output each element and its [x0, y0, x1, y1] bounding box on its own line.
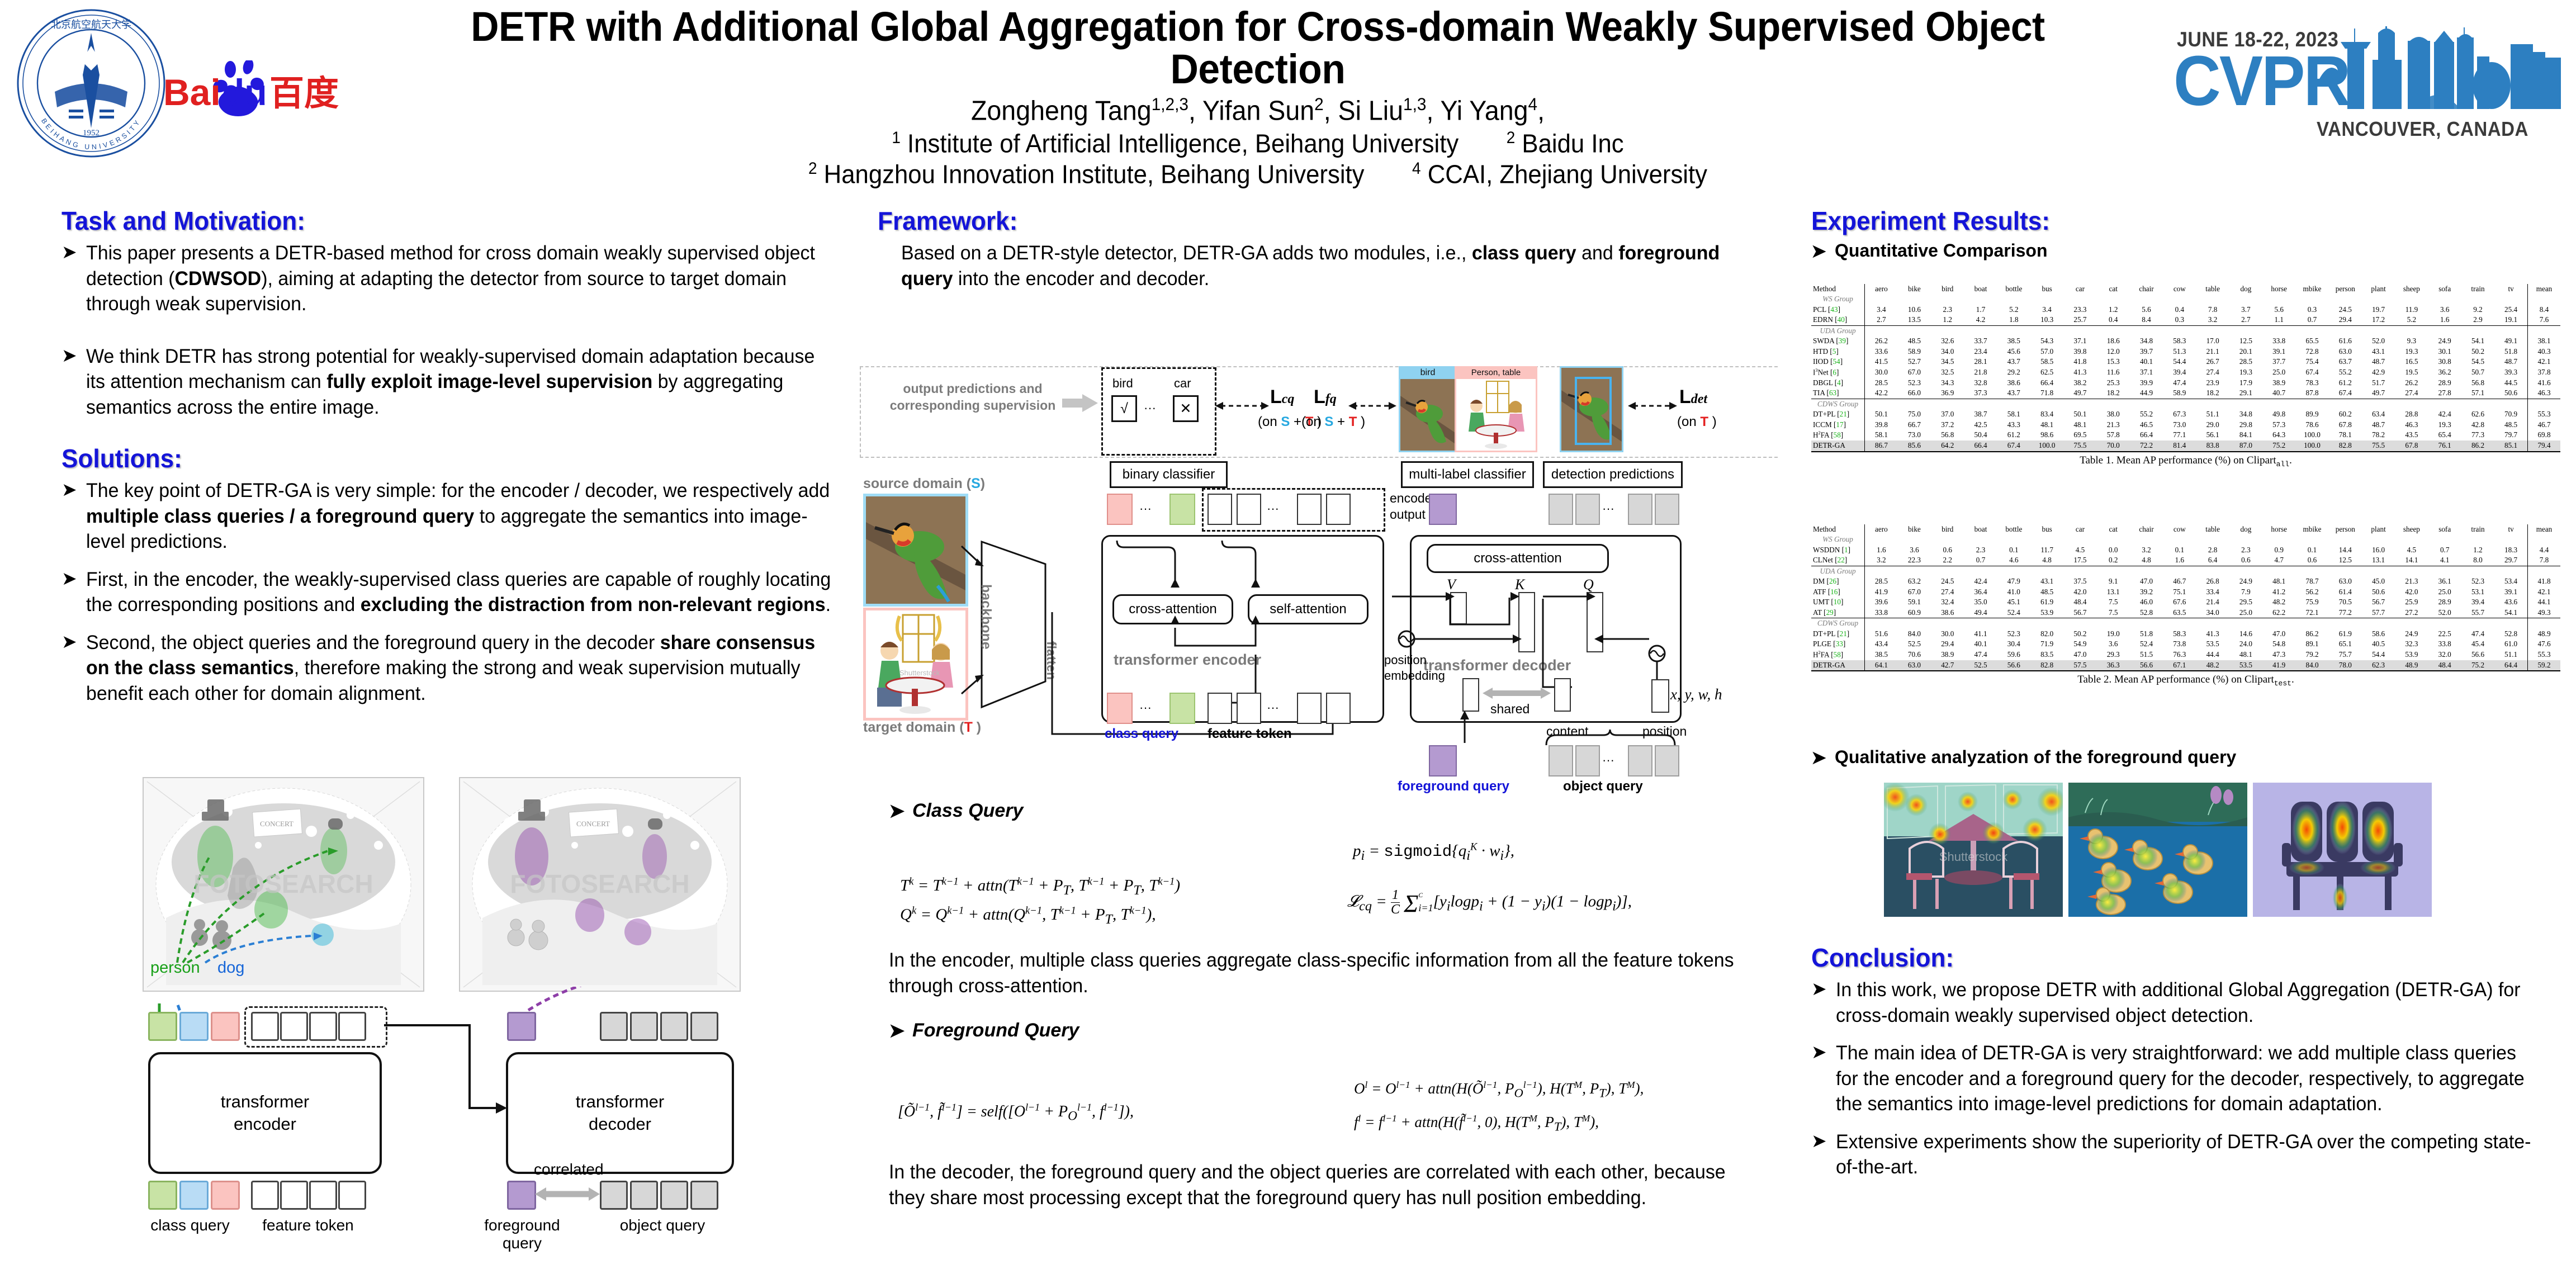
- legend-label-foreground-query: foreground query: [472, 1216, 572, 1252]
- data-cell: 48.7: [2362, 357, 2395, 367]
- label-bird: bird: [1112, 376, 1133, 391]
- data-cell: 18.6: [2097, 336, 2130, 346]
- data-cell: 29.2: [1997, 367, 2030, 378]
- data-cell: 51.8: [2494, 347, 2527, 357]
- right-arrow-icon: [1062, 393, 1099, 413]
- column-header: cat: [2097, 524, 2130, 534]
- data-cell: 51.1: [2494, 650, 2527, 660]
- mean-cell: 47.6: [2528, 639, 2561, 649]
- data-cell: 25.4: [2494, 305, 2527, 315]
- mean-cell: 7.8: [2528, 555, 2561, 566]
- data-cell: 14.4: [2329, 545, 2362, 555]
- mean-cell: 69.8: [2528, 430, 2561, 441]
- table-row: H2FA [58]38.570.638.947.459.683.547.029.…: [1811, 650, 2560, 660]
- data-cell: 54.4: [2163, 357, 2196, 367]
- data-cell: 37.1: [2130, 367, 2163, 378]
- data-cell: 52.5: [1964, 660, 1997, 671]
- data-cell: 3.2: [2196, 315, 2229, 325]
- data-cell: 43.6: [2494, 597, 2527, 607]
- data-cell: 25.0: [2428, 587, 2461, 597]
- ellipsis: ···: [1602, 501, 1614, 516]
- data-cell: 67.1: [2163, 660, 2196, 671]
- data-cell: 69.5: [2063, 430, 2096, 441]
- data-cell: 9.2: [2461, 305, 2494, 315]
- data-cell: 8.4: [2130, 315, 2163, 325]
- data-cell: 41.5: [1865, 357, 1898, 367]
- data-cell: 43.5: [2395, 430, 2428, 441]
- decoder-out-object-query: [1628, 494, 1652, 525]
- data-cell: 4.5: [2395, 545, 2428, 555]
- table-1-caption: Table 1. Mean AP performance (%) on Clip…: [1811, 454, 2560, 468]
- data-cell: 11.7: [2030, 545, 2063, 555]
- data-cell: 11.6: [2097, 367, 2130, 378]
- data-cell: 40.1: [2130, 357, 2163, 367]
- data-cell: 15.3: [2097, 357, 2130, 367]
- column-header: car: [2063, 524, 2096, 534]
- column-header: tv: [2494, 524, 2527, 534]
- data-cell: 19.3: [2395, 347, 2428, 357]
- loss-fq-symbol: Lfq: [1314, 386, 1337, 408]
- data-cell: 3.6: [2097, 639, 2130, 649]
- row-method: UMT [10]: [1811, 597, 1865, 607]
- data-cell: 17.2: [2362, 315, 2395, 325]
- xywh-label: x, y, w, h: [1670, 686, 1722, 703]
- column-right: Experiment Results: ➤ Quantitative Compa…: [1811, 206, 2560, 267]
- data-cell: 4.1: [2428, 555, 2461, 566]
- bullet-task-2: ➤ We think DETR has strong potential for…: [61, 344, 861, 420]
- data-cell: 42.7: [1931, 660, 1964, 671]
- data-cell: 51.5: [2130, 650, 2163, 660]
- data-cell: 55.7: [2461, 608, 2494, 618]
- group-header-row: WS Group: [1811, 294, 2560, 304]
- data-cell: 25.3: [2097, 378, 2130, 388]
- data-cell: 30.0: [1931, 629, 1964, 639]
- data-cell: 26.7: [2196, 357, 2229, 367]
- data-cell: 3.2: [2130, 545, 2163, 555]
- data-cell: 24.9: [2428, 336, 2461, 346]
- subhead-class-query: ➤ Class Query: [889, 800, 1783, 822]
- data-cell: 29.3: [2097, 650, 2130, 660]
- label-dog: dog: [217, 959, 244, 977]
- data-cell: 48.4: [2063, 597, 2096, 607]
- mean-cell: 44.1: [2528, 597, 2561, 607]
- data-cell: 71.9: [2030, 639, 2063, 649]
- position-vector: [1651, 679, 1669, 713]
- data-cell: 100.0: [2295, 430, 2328, 441]
- data-cell: 61.9: [2030, 597, 2063, 607]
- data-cell: 73.0: [2163, 420, 2196, 430]
- beihang-university-logo: 1952 北京航空航天大学 BEIHANG UNIVERSITY: [16, 8, 167, 159]
- table-row: SWDA [39]26.248.532.633.738.554.337.118.…: [1811, 336, 2560, 346]
- data-cell: 19.1: [2494, 315, 2527, 325]
- table-row: UMT [10]39.659.132.435.045.161.948.47.54…: [1811, 597, 2560, 607]
- loss-fq-domain: (on S + T ): [1301, 414, 1365, 430]
- data-cell: 0.9: [2262, 545, 2295, 555]
- data-cell: 33.8: [1865, 608, 1898, 618]
- results-table-2: Methodaerobikebirdboatbottlebuscarcatcha…: [1811, 524, 2560, 671]
- data-cell: 0.3: [2163, 315, 2196, 325]
- data-cell: 51.8: [2130, 629, 2163, 639]
- data-cell: 32.8: [1964, 378, 1997, 388]
- data-cell: 0.4: [2163, 305, 2196, 315]
- data-cell: 86.2: [2295, 629, 2328, 639]
- data-cell: 39.7: [2130, 347, 2163, 357]
- data-cell: 49.8: [2262, 409, 2295, 419]
- data-cell: 77.2: [2329, 608, 2362, 618]
- column-header: mean: [2528, 524, 2561, 534]
- label-person: person: [150, 959, 200, 977]
- cvpr-logo: JUNE 18-22, 2023 CVPR VANCOUVER, CANADA: [2177, 28, 2568, 168]
- data-cell: 87.8: [2295, 388, 2328, 399]
- column-header: Method: [1811, 524, 1865, 534]
- data-cell: 52.4: [2130, 639, 2163, 649]
- equation-fq-1: [Õl−1, f̃l−1] = self([Ol−1 + POl−1, fl−1…: [898, 1097, 1134, 1129]
- data-cell: 53.4: [2494, 576, 2527, 586]
- data-cell: 89.1: [2295, 639, 2328, 649]
- svg-text:北京航空航天大学: 北京航空航天大学: [51, 19, 131, 30]
- data-cell: 26.2: [2395, 378, 2428, 388]
- data-cell: 47.9: [1997, 576, 2030, 586]
- data-cell: 61.0: [2494, 639, 2527, 649]
- data-cell: 24.0: [2229, 639, 2262, 649]
- data-cell: 57.5: [2063, 660, 2096, 671]
- ellipsis: ···: [1602, 753, 1614, 768]
- legend-feature-token: [251, 1181, 279, 1210]
- group-label: WS Group: [1811, 534, 1865, 544]
- bullet-arrow-icon: ➤: [889, 1020, 912, 1042]
- data-cell: 66.4: [1964, 441, 1997, 451]
- data-cell: 42.2: [1865, 388, 1898, 399]
- column-header: sheep: [2395, 284, 2428, 294]
- data-cell: 66.4: [2030, 378, 2063, 388]
- data-cell: 58.3: [2163, 629, 2196, 639]
- data-cell: 17.0: [2196, 336, 2229, 346]
- bullet-arrow-icon: ➤: [61, 567, 86, 590]
- position-embedding-label: positionembedding: [1384, 652, 1462, 683]
- table-row: H2FA [58]58.173.056.850.461.298.669.557.…: [1811, 430, 2560, 441]
- data-cell: 38.9: [1931, 650, 1964, 660]
- data-cell: 43.7: [1997, 388, 2030, 399]
- column-header: bottle: [1997, 284, 2030, 294]
- row-method: CLNet [22]: [1811, 555, 1865, 566]
- data-cell: 5.6: [2262, 305, 2295, 315]
- data-cell: 48.1: [2063, 420, 2096, 430]
- data-cell: 41.8: [2063, 357, 2096, 367]
- data-cell: 30.0: [1865, 367, 1898, 378]
- column-header: bird: [1931, 524, 1964, 534]
- data-cell: 4.7: [2262, 555, 2295, 566]
- data-cell: 63.0: [2329, 347, 2362, 357]
- ellipsis: ···: [1267, 700, 1279, 715]
- column-header: mbike: [2295, 284, 2328, 294]
- table-row: IIOD [54]41.552.734.528.143.758.541.815.…: [1811, 357, 2560, 367]
- column-header: aero: [1865, 524, 1898, 534]
- data-cell: 45.4: [2461, 639, 2494, 649]
- data-cell: 38.5: [1997, 336, 2030, 346]
- loss-det-symbol: Ldet: [1679, 386, 1707, 408]
- data-cell: 10.6: [1898, 305, 1931, 315]
- data-cell: 29.8: [2229, 420, 2262, 430]
- data-cell: 47.4: [1964, 650, 1997, 660]
- data-cell: 39.1: [2494, 587, 2527, 597]
- foreground-query-input: [1429, 745, 1457, 776]
- data-cell: 23.4: [1964, 347, 1997, 357]
- data-cell: 85.6: [1898, 441, 1931, 451]
- bullet-conclusion-1: ➤ In this work, we propose DETR with add…: [1811, 977, 2560, 1028]
- data-cell: 16.0: [2362, 545, 2395, 555]
- data-cell: 2.3: [1964, 545, 1997, 555]
- group-header-row: WS Group: [1811, 534, 2560, 544]
- column-header: cow: [2163, 524, 2196, 534]
- data-cell: 0.6: [1931, 545, 1964, 555]
- data-cell: 21.4: [2196, 597, 2229, 607]
- data-cell: 2.9: [2461, 315, 2494, 325]
- data-cell: 77.3: [2461, 430, 2494, 441]
- data-cell: 64.3: [2262, 430, 2295, 441]
- legend-class-query-green: [148, 1181, 177, 1210]
- table-row: HTD [5]33.658.934.023.445.657.039.812.03…: [1811, 347, 2560, 357]
- data-cell: 50.2: [2063, 629, 2096, 639]
- foreground-query-section: ➤ Foreground Query [Õl−1, f̃l−1] = self(…: [889, 1016, 1783, 1219]
- data-cell: 78.1: [2329, 430, 2362, 441]
- data-cell: 32.0: [2428, 650, 2461, 660]
- data-cell: 34.0: [2196, 608, 2229, 618]
- data-cell: 63.0: [1898, 660, 1931, 671]
- data-cell: 62.3: [2362, 660, 2395, 671]
- column-header: plant: [2362, 284, 2395, 294]
- column-header: chair: [2130, 284, 2163, 294]
- data-cell: 12.0: [2097, 347, 2130, 357]
- bullet-text: We think DETR has strong potential for w…: [86, 344, 837, 420]
- equation-cq-3: pi = sigmoid{qiK · wi},: [1353, 836, 1514, 869]
- bullet-solution-3: ➤ Second, the object queries and the for…: [61, 630, 861, 707]
- data-cell: 56.6: [2461, 650, 2494, 660]
- data-cell: 62.6: [2461, 409, 2494, 419]
- data-cell: 37.3: [1964, 388, 1997, 399]
- data-cell: 76.1: [2428, 441, 2461, 451]
- data-cell: 70.5: [2329, 597, 2362, 607]
- data-cell: 81.4: [2163, 441, 2196, 451]
- data-cell: 0.1: [2163, 545, 2196, 555]
- data-cell: 52.3: [2461, 576, 2494, 586]
- foreground-query-label: foreground query: [1398, 779, 1509, 794]
- data-cell: 67.4: [2329, 388, 2362, 399]
- data-cell: 19.7: [2362, 305, 2395, 315]
- data-cell: 16.5: [2395, 357, 2428, 367]
- heatmap-image-chairs: [2253, 783, 2432, 917]
- table-row: EDRN [40]2.713.51.24.21.810.325.70.48.40…: [1811, 315, 2560, 325]
- data-cell: 64.4: [2494, 660, 2527, 671]
- data-cell: 25.9: [2395, 597, 2428, 607]
- data-cell: 12.5: [2329, 555, 2362, 566]
- data-cell: 4.8: [2030, 555, 2063, 566]
- loss-det-domain: (on T ): [1677, 414, 1717, 430]
- group-header-row: UDA Group: [1811, 566, 2560, 576]
- column-header: cat: [2097, 284, 2130, 294]
- data-cell: 21.3: [2395, 576, 2428, 586]
- mean-cell: 55.3: [2528, 650, 2561, 660]
- row-method: ICCM [17]: [1811, 420, 1865, 430]
- column-header: horse: [2262, 284, 2295, 294]
- data-cell: 41.0: [1997, 587, 2030, 597]
- detection-prediction-thumbnail: [1560, 366, 1623, 452]
- data-cell: 0.6: [2295, 555, 2328, 566]
- data-cell: 57.7: [2362, 608, 2395, 618]
- data-cell: 38.0: [2097, 409, 2130, 419]
- data-cell: 38.6: [1931, 608, 1964, 618]
- data-cell: 54.5: [2461, 357, 2494, 367]
- group-header-row: CDWS Group: [1811, 399, 2560, 409]
- input-feature-token: [1237, 693, 1261, 724]
- table-header-row: Methodaerobikebirdboatbottlebuscarcatcha…: [1811, 524, 2560, 534]
- baidu-logo: Bai du 百度: [163, 60, 342, 116]
- data-cell: 4.2: [1964, 315, 1997, 325]
- mean-cell: 41.8: [2528, 576, 2561, 586]
- data-cell: 38.9: [2262, 378, 2295, 388]
- data-cell: 42.4: [2428, 409, 2461, 419]
- table-row: I3Net [6]30.067.032.521.829.262.541.311.…: [1811, 367, 2560, 378]
- data-cell: 52.3: [1898, 378, 1931, 388]
- data-cell: 1.2: [1931, 315, 1964, 325]
- data-cell: 29.4: [1931, 639, 1964, 649]
- data-cell: 36.3: [2097, 660, 2130, 671]
- data-cell: 79.2: [2295, 650, 2328, 660]
- data-cell: 28.9: [2428, 597, 2461, 607]
- results-table-1: Methodaerobikebirdboatbottlebuscarcatcha…: [1811, 284, 2560, 452]
- object-query-input: [1575, 745, 1600, 776]
- data-cell: 47.0: [2063, 650, 2096, 660]
- bullet-arrow-icon: ➤: [61, 630, 86, 654]
- data-cell: 5.2: [2395, 315, 2428, 325]
- data-cell: 58.1: [1997, 409, 2030, 419]
- table-row: WSDDN [1]1.63.60.62.30.111.74.50.03.20.1…: [1811, 545, 2560, 555]
- table-header-row: Methodaerobikebirdboatbottlebuscarcatcha…: [1811, 284, 2560, 294]
- data-cell: 42.5: [1964, 420, 1997, 430]
- object-query-token: [690, 1012, 718, 1041]
- column-header: sofa: [2428, 524, 2461, 534]
- ellipsis: ···: [1267, 501, 1279, 516]
- data-cell: 28.9: [2428, 378, 2461, 388]
- mean-cell: 37.8: [2528, 367, 2561, 378]
- row-method: PCL [43]: [1811, 305, 1865, 315]
- data-cell: 77.1: [2163, 430, 2196, 441]
- data-cell: 43.1: [2030, 576, 2063, 586]
- column-header: person: [2329, 524, 2362, 534]
- bullet-arrow-icon: ➤: [61, 344, 86, 367]
- page-title: DETR with Additional Global Aggregation …: [391, 6, 2125, 91]
- encoder-out-class-query-green: [1169, 494, 1195, 525]
- data-cell: 56.1: [2196, 430, 2229, 441]
- data-cell: 39.1: [2262, 347, 2295, 357]
- data-cell: 34.0: [1931, 347, 1964, 357]
- section-experiment-results: Experiment Results:: [1811, 206, 2530, 236]
- data-cell: 53.5: [2229, 660, 2262, 671]
- data-cell: 28.1: [1964, 357, 1997, 367]
- data-cell: 36.4: [1964, 587, 1997, 597]
- bullet-arrow-icon: ➤: [1811, 977, 1836, 1001]
- data-cell: 29.0: [2196, 420, 2229, 430]
- data-cell: 56.6: [1997, 660, 2030, 671]
- data-cell: 34.8: [2229, 409, 2262, 419]
- table-row: ICCM [17]39.866.737.242.543.348.148.121.…: [1811, 420, 2560, 430]
- data-cell: 67.8: [2395, 441, 2428, 451]
- data-cell: 14.6: [2229, 629, 2262, 639]
- data-cell: 48.5: [1898, 336, 1931, 346]
- data-cell: 41.9: [2262, 660, 2295, 671]
- legend-feature-token: [280, 1181, 308, 1210]
- equation-cq-4: 𝓛cq = 1C ΣCi=1[yilogpi + (1 − yi)(1 − lo…: [1347, 879, 1632, 926]
- data-cell: 18.2: [2196, 388, 2229, 399]
- data-cell: 33.4: [2196, 587, 2229, 597]
- data-cell: 58.1: [1865, 430, 1898, 441]
- row-method: DETR-GA: [1811, 660, 1865, 671]
- data-cell: 56.8: [1931, 430, 1964, 441]
- data-cell: 63.2: [1898, 576, 1931, 586]
- table-row: TIA [63]42.266.036.937.343.771.849.718.2…: [1811, 388, 2560, 399]
- data-cell: 56.2: [2295, 587, 2328, 597]
- row-method: ATF [16]: [1811, 587, 1865, 597]
- source-thumbnail-bird: bird: [1399, 366, 1457, 452]
- column-header: person: [2329, 284, 2362, 294]
- data-cell: 56.7: [2063, 608, 2096, 618]
- group-header-row: UDA Group: [1811, 325, 2560, 336]
- decoder-out-object-query: [1549, 494, 1573, 525]
- data-cell: 26.2: [1865, 336, 1898, 346]
- data-cell: 63.4: [2362, 409, 2395, 419]
- foreground-query-vector: [1462, 678, 1479, 712]
- object-query-token: [600, 1012, 628, 1041]
- data-cell: 42.9: [2362, 367, 2395, 378]
- data-cell: 63.0: [2329, 576, 2362, 586]
- encoder-out-feature-token: [1297, 494, 1322, 525]
- encoder-out-feature-token: [1326, 494, 1351, 525]
- column-header: train: [2461, 524, 2494, 534]
- data-cell: 63.7: [2329, 357, 2362, 367]
- data-cell: 51.6: [1865, 629, 1898, 639]
- data-cell: 75.7: [2329, 650, 2362, 660]
- column-header: mean: [2528, 284, 2561, 294]
- row-method: DM [26]: [1811, 576, 1865, 586]
- data-cell: 89.9: [2295, 409, 2328, 419]
- data-cell: 51.1: [2196, 409, 2229, 419]
- svg-text:du: du: [222, 72, 267, 113]
- data-cell: 48.2: [2196, 660, 2229, 671]
- data-cell: 0.1: [1997, 545, 2030, 555]
- data-cell: 22.3: [1898, 555, 1931, 566]
- bullet-arrow-icon: ➤: [61, 240, 86, 264]
- data-cell: 34.3: [1931, 378, 1964, 388]
- data-cell: 10.3: [2030, 315, 2063, 325]
- data-cell: 46.7: [2163, 576, 2196, 586]
- data-cell: 75.5: [2362, 441, 2395, 451]
- data-cell: 64.1: [1865, 660, 1898, 671]
- feature-token: [251, 1012, 279, 1041]
- mean-cell: 40.3: [2528, 347, 2561, 357]
- data-cell: 49.4: [1964, 608, 1997, 618]
- data-cell: 52.5: [1898, 639, 1931, 649]
- input-class-query-green: [1169, 693, 1195, 724]
- ellipsis: ···: [1139, 700, 1152, 715]
- svg-text:CONCERT: CONCERT: [576, 820, 610, 828]
- data-cell: 67.8: [2329, 420, 2362, 430]
- data-cell: 1.8: [1997, 315, 2030, 325]
- data-cell: 54.3: [2030, 336, 2063, 346]
- foreground-query-equations: [Õl−1, f̃l−1] = self([Ol−1 + POl−1, fl−1…: [889, 1048, 1783, 1148]
- data-cell: 53.9: [2030, 608, 2063, 618]
- data-cell: 45.1: [1997, 597, 2030, 607]
- multi-label-classifier-box: multi-label classifier: [1401, 461, 1534, 488]
- data-cell: 20.1: [2229, 347, 2262, 357]
